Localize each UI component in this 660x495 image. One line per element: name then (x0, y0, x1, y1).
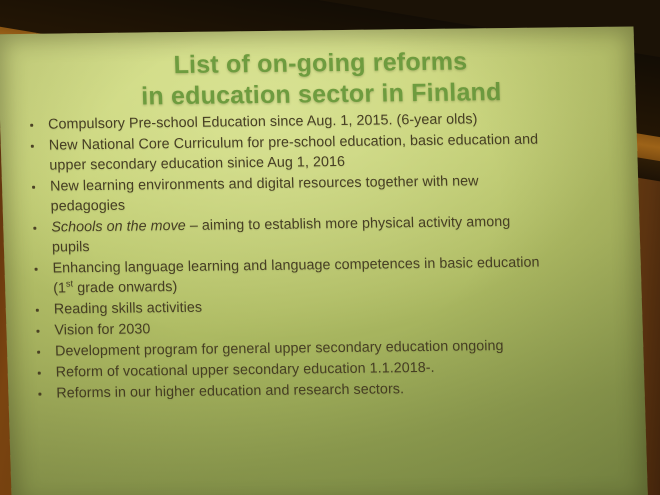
bullet-text: Enhancing language learning and language… (52, 255, 539, 277)
bullet-text: – aiming to establish more physical acti… (186, 214, 511, 234)
slide-title-line-1: List of on-going reforms (173, 47, 468, 79)
bullet-text: New learning environments and digital re… (50, 173, 479, 194)
list-item: Schools on the move – aiming to establis… (25, 211, 626, 258)
slide-content: List of on-going reforms in education se… (0, 26, 648, 495)
projection-screen: List of on-going reforms in education se… (0, 26, 648, 495)
grade-prefix: (1 (53, 280, 66, 296)
grade-suffix: grade onwards) (73, 279, 178, 296)
list-item: New National Core Curriculum for pre-sch… (23, 129, 624, 176)
bullet-italic-prefix: Schools on the move (51, 218, 186, 236)
bullet-text: Reading skills activities (54, 300, 203, 318)
bullet-text: Development program for general upper se… (55, 338, 504, 359)
bullet-text: Compulsory Pre-school Education since Au… (48, 111, 478, 132)
bullet-text: Vision for 2030 (54, 321, 150, 338)
bullet-text: Reforms in our higher education and rese… (56, 381, 404, 401)
bullet-text: Reform of vocational upper secondary edu… (56, 360, 435, 381)
list-item: Enhancing language learning and language… (26, 252, 627, 299)
list-item: New learning environments and digital re… (24, 170, 625, 217)
slide-title: List of on-going reforms in education se… (20, 45, 622, 113)
photo-scene: List of on-going reforms in education se… (0, 0, 660, 495)
slide-title-line-2: in education sector in Finland (21, 75, 622, 113)
reform-bullet-list: Compulsory Pre-school Education since Au… (22, 108, 631, 404)
bullet-text: New National Core Curriculum for pre-sch… (49, 132, 539, 154)
presentation-slide: List of on-going reforms in education se… (0, 26, 648, 495)
